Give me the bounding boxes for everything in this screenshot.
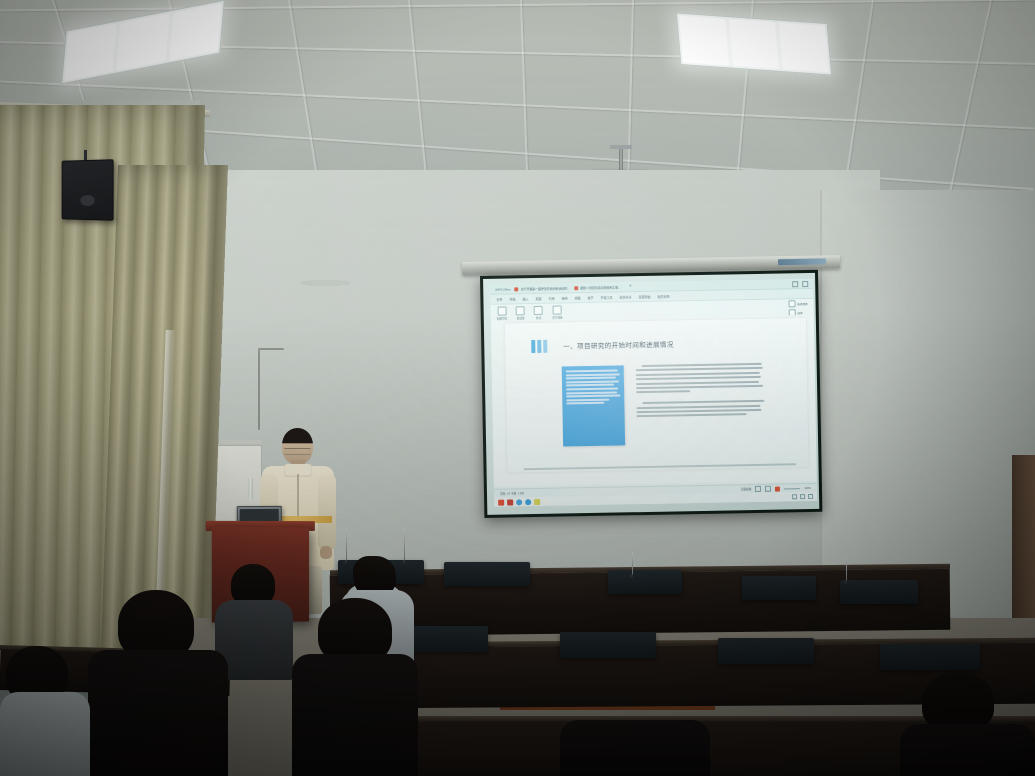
search-icon <box>788 300 795 307</box>
attendee <box>0 646 90 776</box>
speaker-cone-icon <box>80 195 94 206</box>
menu-item-10[interactable]: 百度网盘 <box>639 294 651 298</box>
conference-chair[interactable] <box>880 644 980 670</box>
document-tab-2-label: 课题“x”项目阶段总结报告汇报… <box>580 285 621 290</box>
menu-item-9[interactable]: 会员专享 <box>620 295 632 299</box>
light-fixture-front-right <box>676 12 832 75</box>
menu-item-3[interactable]: 页面 <box>535 296 541 300</box>
conference-chair[interactable] <box>718 638 814 664</box>
attendee-torso <box>292 654 418 776</box>
ribbon-group-2[interactable]: 样式 <box>534 306 543 320</box>
ribbon-group-0[interactable]: 智能写作 <box>497 307 508 321</box>
browser-icon[interactable] <box>525 499 531 505</box>
conference-chair[interactable] <box>840 580 918 604</box>
document-page: 一、项目研究的开始时间和进展情况 <box>505 318 809 472</box>
ribbon-group-1[interactable]: 格式刷 <box>516 306 525 320</box>
conference-chair[interactable] <box>608 570 682 594</box>
document-canvas[interactable]: 一、项目研究的开始时间和进展情况 <box>491 315 817 487</box>
media-icon[interactable] <box>507 499 513 505</box>
document-footnote <box>524 463 797 470</box>
water-bottle <box>248 478 253 500</box>
glasses-icon <box>284 448 311 455</box>
wall-mounted-speaker <box>62 159 114 221</box>
conference-room-photo: WPS Office 关于开展第一届学生科技创新活动的… 课题“x”项目阶段总结… <box>0 0 1035 776</box>
ribbon-right-tools[interactable]: 查找替换 选择 <box>788 300 808 316</box>
app-icon[interactable] <box>543 498 549 504</box>
whiteboard-edge <box>218 440 262 444</box>
desk-microphone-base <box>844 580 847 584</box>
light-fixture-front-left <box>61 0 225 84</box>
pen-icon <box>497 307 506 316</box>
housing-brand-label <box>778 258 826 265</box>
right-wall <box>820 190 1035 620</box>
view-print-icon[interactable] <box>765 486 771 492</box>
new-tab-button[interactable]: + <box>629 284 632 289</box>
document-icon <box>515 287 519 291</box>
view-mode-label[interactable]: 页面视图 <box>741 487 751 491</box>
attendee <box>292 598 418 776</box>
presenter-zipper <box>297 474 299 520</box>
attendee-torso <box>560 720 710 776</box>
styles-icon <box>534 306 543 315</box>
presenter-arm-right <box>318 474 336 550</box>
attendee <box>560 700 710 776</box>
zoom-level-label: 100% <box>804 486 811 489</box>
desk-microphone <box>632 552 633 576</box>
menu-item-0[interactable]: 文件 <box>496 297 502 301</box>
find-replace-tool[interactable]: 查找替换 <box>788 300 808 307</box>
projector-mount-pole <box>619 148 623 172</box>
text-layout-icon <box>553 306 562 315</box>
cloud-icon[interactable] <box>516 499 522 505</box>
document-tab-2[interactable]: 课题“x”项目阶段总结报告汇报… <box>574 283 621 291</box>
format-brush-icon <box>516 306 525 315</box>
blue-highlight-callout <box>562 365 625 446</box>
desk-microphone-base <box>630 574 633 578</box>
conference-chair[interactable] <box>444 562 530 586</box>
folder-icon[interactable] <box>534 498 540 504</box>
menu-item-6[interactable]: 视图 <box>574 296 580 300</box>
menu-item-8[interactable]: 开发工具 <box>600 295 612 299</box>
menu-item-4[interactable]: 引用 <box>548 296 554 300</box>
app-home-label: WPS Office <box>495 287 511 291</box>
window-controls[interactable] <box>792 280 808 286</box>
maximize-icon[interactable] <box>802 280 808 286</box>
wps-icon[interactable] <box>498 499 504 505</box>
ribbon-group-3[interactable]: 文字排版 <box>552 305 563 319</box>
menu-item-5[interactable]: 审阅 <box>561 296 567 300</box>
attendee <box>88 590 228 776</box>
document-icon <box>574 286 578 290</box>
network-icon[interactable] <box>792 494 797 499</box>
presenter-head <box>282 428 313 464</box>
projected-document-window: WPS Office 关于开展第一届学生科技创新活动的… 课题“x”项目阶段总结… <box>490 279 817 507</box>
attendee-head <box>922 672 994 732</box>
wall-cable-drop <box>258 350 260 430</box>
record-icon[interactable] <box>775 486 780 491</box>
pull-down-projection-screen: WPS Office 关于开展第一届学生科技创新活动的… 课题“x”项目阶段总结… <box>480 270 822 518</box>
zoom-slider[interactable] <box>784 488 800 489</box>
attendee-torso <box>0 692 90 776</box>
clock-icon[interactable] <box>808 494 813 499</box>
wall-cable <box>258 348 284 350</box>
status-page-count: 页面: 1/3 字数: 1,286 <box>500 491 524 495</box>
desk-microphone <box>846 556 847 582</box>
menu-item-2[interactable]: 插入 <box>522 297 528 301</box>
document-tab-1[interactable]: 关于开展第一届学生科技创新活动的… <box>515 284 570 292</box>
document-tab-1-label: 关于开展第一届学生科技创新活动的… <box>521 286 570 291</box>
three-blue-bars-icon <box>531 340 547 353</box>
view-web-icon[interactable] <box>755 486 761 492</box>
conference-chair[interactable] <box>560 632 656 658</box>
system-tray[interactable] <box>792 494 813 499</box>
volume-icon[interactable] <box>800 494 805 499</box>
attendee-torso <box>900 724 1035 776</box>
attendee-torso <box>88 650 228 776</box>
conference-chair[interactable] <box>742 576 816 600</box>
select-label: 选择 <box>797 311 802 315</box>
menu-item-7[interactable]: 章节 <box>587 295 593 299</box>
document-body-text <box>636 363 765 420</box>
presenter-hand <box>320 546 332 559</box>
slide-title: 一、项目研究的开始时间和进展情况 <box>563 338 674 350</box>
menu-item-1[interactable]: 开始 <box>509 297 515 301</box>
menu-item-11[interactable]: 稻壳资源 <box>658 294 670 298</box>
minimize-icon[interactable] <box>792 281 798 287</box>
find-replace-label: 查找替换 <box>797 302 807 306</box>
projector-ceiling-plate <box>610 145 632 149</box>
attendee <box>900 672 1035 776</box>
